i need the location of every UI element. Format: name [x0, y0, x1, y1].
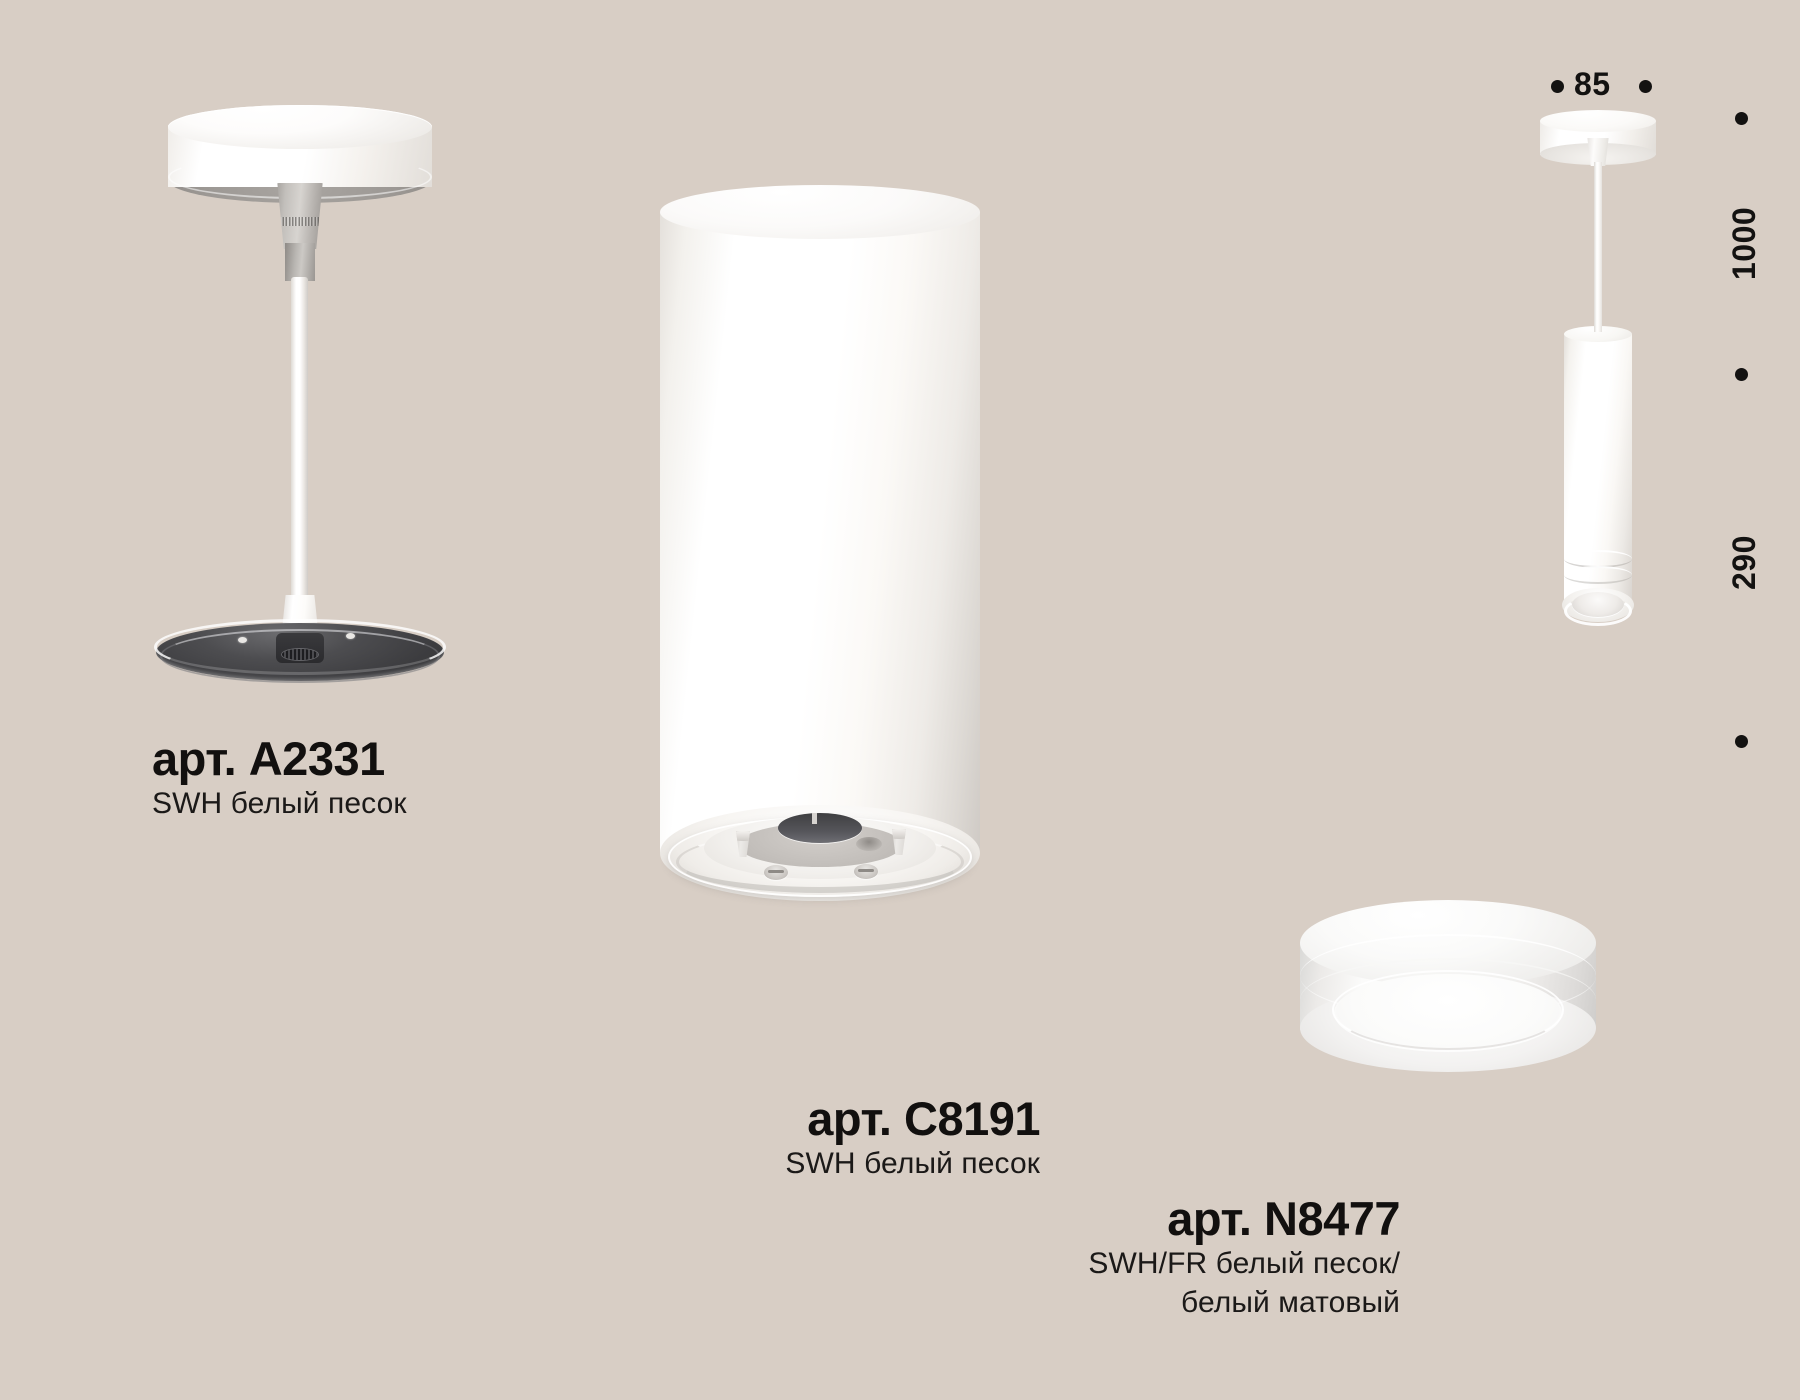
article-description-c8191: SWH белый песок — [610, 1144, 1040, 1184]
pendant-canopy-top-face — [1540, 110, 1656, 132]
cylinder-cable-hole — [856, 837, 882, 851]
dimension-width: 85 — [1574, 66, 1611, 103]
article-description-n8477-line2: белый матовый — [1070, 1283, 1400, 1323]
product-n8477-diffuser — [1288, 900, 1608, 1100]
pendant-suspension-cable — [1594, 162, 1602, 332]
strain-relief-icon — [273, 183, 327, 249]
disc-screw — [238, 637, 247, 643]
cylinder-top-face — [660, 185, 980, 239]
article-number-n8477: арт. N8477 — [1070, 1195, 1400, 1244]
label-a2331: арт. A2331 SWH белый песок — [152, 735, 407, 823]
dimension-dot-fixture-bottom — [1735, 735, 1748, 748]
product-c8191-cylinder — [660, 185, 980, 905]
canopy-top-face — [168, 105, 432, 149]
article-description-n8477-line1: SWH/FR белый песок/ — [1070, 1244, 1400, 1284]
article-description-a2331: SWH белый песок — [152, 784, 407, 824]
dimension-dot-suspension-bottom — [1735, 368, 1748, 381]
dimension-fixture-height: 290 — [1726, 535, 1763, 590]
cylinder-side — [660, 212, 980, 852]
pendant-aperture — [1572, 592, 1624, 618]
article-number-c8191: арт. C8191 — [610, 1095, 1040, 1144]
dimension-dot-width-right — [1639, 80, 1652, 93]
pendant-decor-ring — [1564, 566, 1632, 584]
dimension-dot-width-left — [1551, 80, 1564, 93]
article-number-a2331: арт. A2331 — [152, 735, 407, 784]
dimension-suspension-length: 1000 — [1726, 207, 1763, 280]
disc-connector-hub — [276, 633, 324, 663]
diffuser-center-rim — [1332, 970, 1564, 1050]
cylinder-aperture — [778, 813, 862, 843]
mounting-screw — [764, 865, 788, 880]
dimension-dot-suspension-top — [1735, 112, 1748, 125]
disc-screw — [346, 633, 355, 639]
label-n8477: арт. N8477 SWH/FR белый песок/ белый мат… — [1070, 1195, 1400, 1323]
product-assembly-diagram: арт. A2331 SWH белый песок арт. C8191 SW… — [0, 0, 1800, 1400]
assembled-pendant-luminaire — [1498, 110, 1698, 670]
mounting-screw — [854, 864, 878, 879]
label-c8191: арт. C8191 SWH белый песок — [610, 1095, 1040, 1183]
strain-relief-neck — [285, 243, 315, 281]
product-a2331-canopy — [150, 105, 450, 675]
